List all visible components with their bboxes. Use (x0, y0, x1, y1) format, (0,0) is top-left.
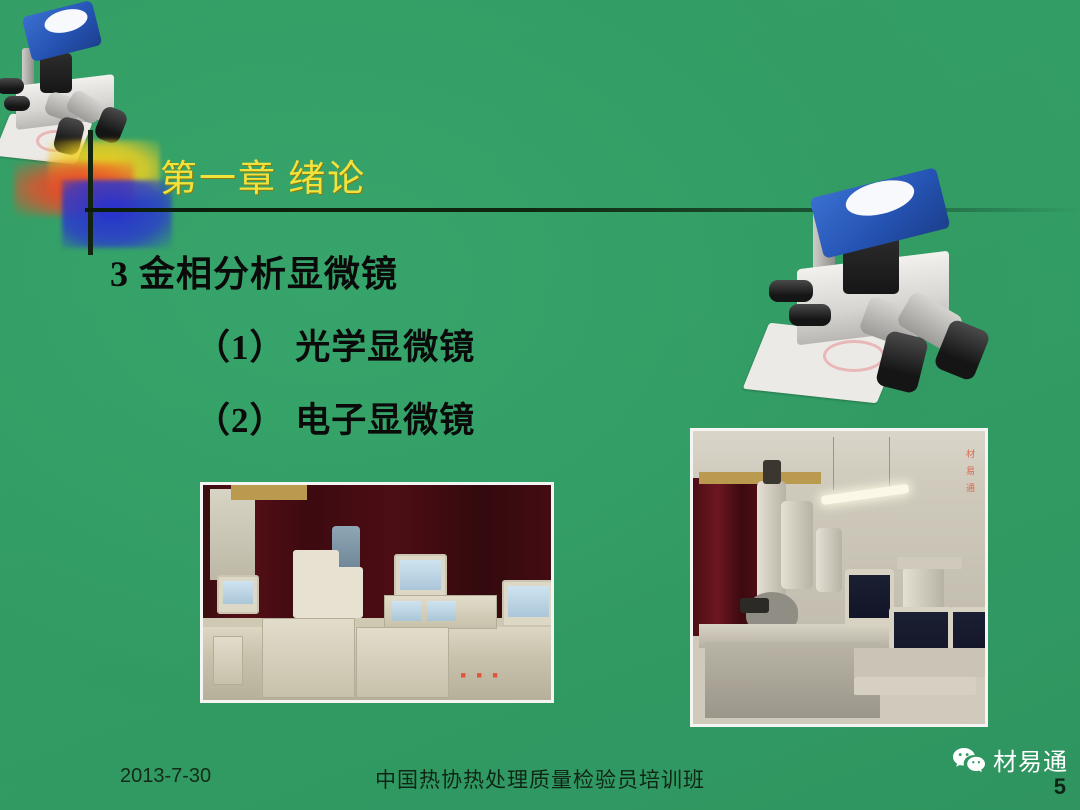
list-item-electron-microscope: （2） 电子显微镜 (195, 392, 640, 443)
sem-monitor-right-screen (508, 586, 549, 617)
microscope-knob-upper (0, 78, 24, 94)
sem-panel-display-left (392, 601, 421, 620)
page-title: 第一章 绪论 (160, 148, 366, 202)
sem-chamber (321, 567, 363, 619)
tem-column-upper (781, 501, 813, 589)
tem-light-wire-left (833, 437, 834, 490)
page-number: 5 (1054, 774, 1066, 800)
tem-monitor-back-screen (849, 575, 891, 618)
ornament-blue-block (62, 180, 172, 248)
tem-shelf (897, 557, 961, 569)
microscope-knob-lower (4, 96, 30, 111)
sem-monitor-left (217, 575, 259, 613)
body-text-block: 3 金相分析显微镜 （1） 光学显微镜 （2） 电子显微镜 (0, 245, 640, 443)
sem-monitor-right (502, 580, 554, 627)
tem-column-secondary (816, 528, 842, 592)
sem-wall-trim (231, 485, 308, 500)
slide-canvas: 第一章 绪论 3 金相分析显微镜 （1） 光学显微镜 （2） 电子显微镜 (0, 0, 1080, 810)
tem-front-desk (854, 648, 988, 677)
ornament-vertical-line (88, 130, 93, 255)
microscope-nosepiece (40, 53, 72, 93)
wechat-icon (952, 746, 986, 774)
tem-monitor-back (845, 569, 895, 628)
sem-monitor-screen (400, 560, 441, 590)
microscope-stage-ring (823, 340, 885, 372)
microscope-knob-upper (769, 280, 813, 302)
tem-keyboard (854, 677, 977, 695)
sem-floor-line (203, 618, 551, 627)
brand-watermark: 材易通 (952, 742, 1068, 777)
brand-name: 材易通 (993, 742, 1068, 777)
tem-photo-watermark: 材易通 (964, 449, 977, 500)
decorative-ornament (0, 140, 170, 250)
sem-cabinet-center (356, 627, 448, 698)
sem-photo-watermark: ■ ■ ■ (461, 670, 502, 680)
sem-window (210, 489, 255, 579)
tem-side-equipment (903, 566, 944, 613)
tem-column-cap (763, 460, 781, 483)
list-item-optical-microscope: （1） 光学显微镜 (195, 319, 640, 370)
tem-lab-photo: 材易通 (690, 428, 988, 727)
section-heading: 3 金相分析显微镜 (110, 245, 640, 297)
sem-console-cabinet (262, 618, 354, 697)
footer-course-title: 中国热协热处理质量检验员培训班 (0, 764, 1080, 794)
microscope-knob-lower (789, 304, 831, 326)
sem-control-panel (384, 595, 497, 629)
sem-lab-photo: ■ ■ ■ (200, 482, 554, 703)
optical-microscope-large-image (735, 182, 1035, 412)
sem-panel-display-right (427, 601, 456, 620)
tem-binocular (740, 598, 769, 613)
sem-pc-tower (213, 636, 243, 685)
sem-monitor-left-screen (223, 581, 254, 604)
